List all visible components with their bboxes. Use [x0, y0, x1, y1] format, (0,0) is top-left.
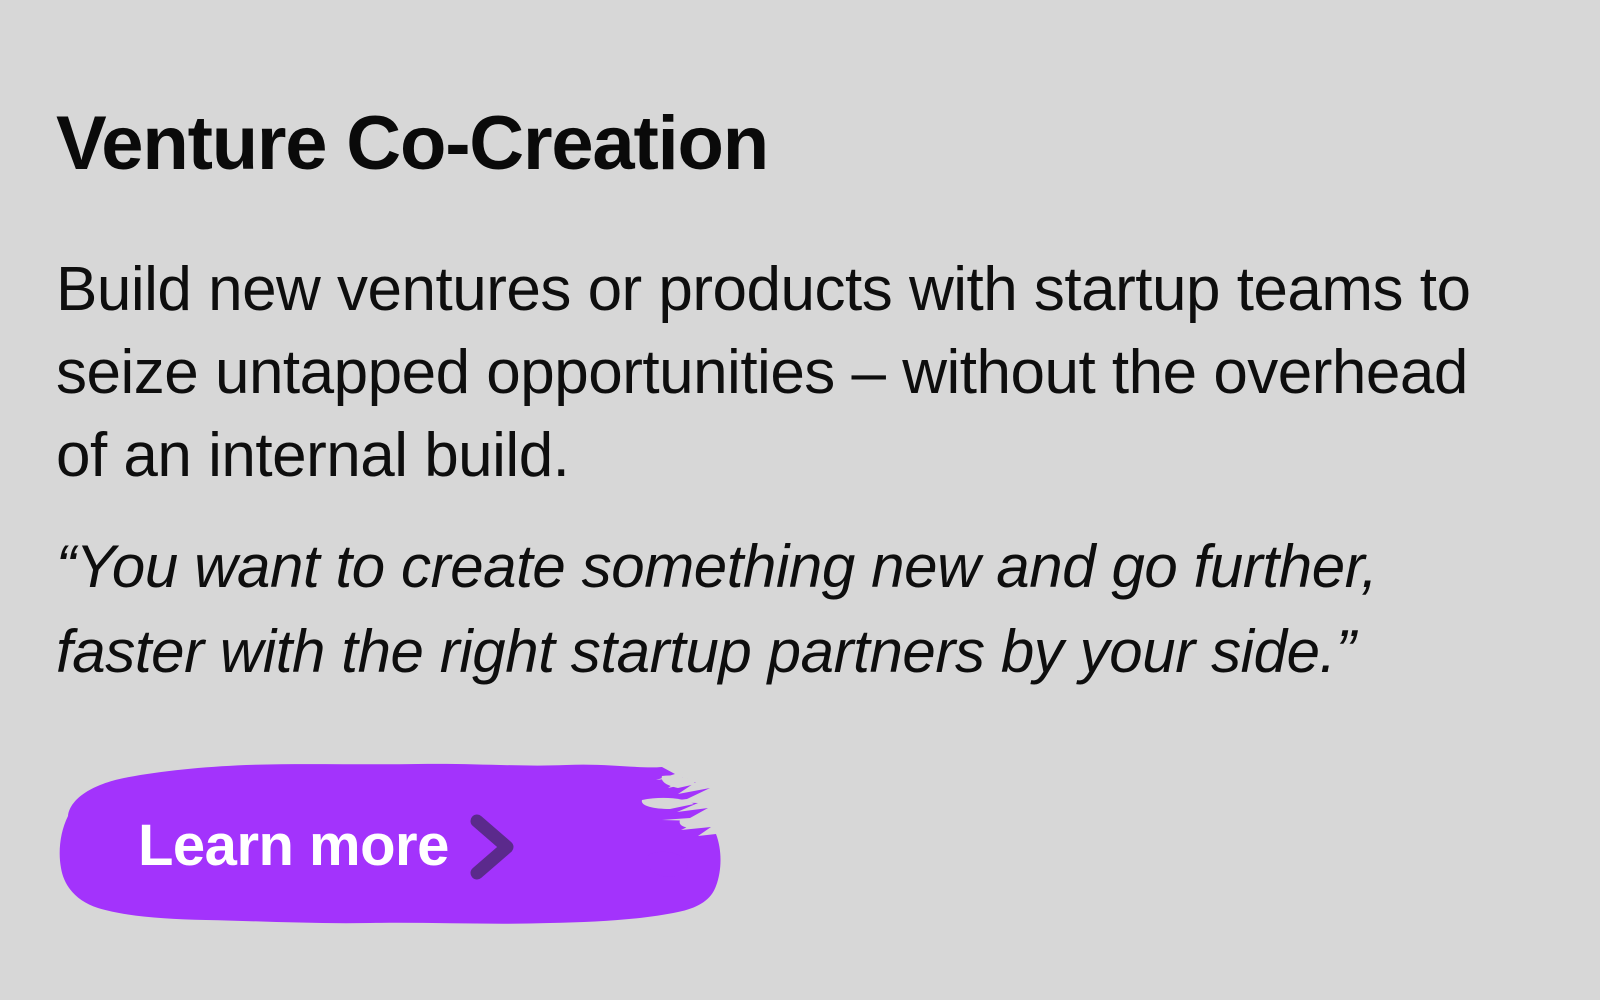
learn-more-label: Learn more [138, 817, 449, 875]
body-description: Build new ventures or products with star… [56, 248, 1526, 497]
brush-stroke-shape [50, 758, 740, 930]
venture-co-creation-card: Venture Co-Creation Build new ventures o… [0, 0, 1600, 1000]
pull-quote: “You want to create something new and go… [56, 524, 1526, 694]
learn-more-button[interactable]: Learn more [50, 758, 740, 930]
page-title: Venture Co-Creation [56, 99, 768, 189]
chevron-right-icon [465, 811, 519, 883]
